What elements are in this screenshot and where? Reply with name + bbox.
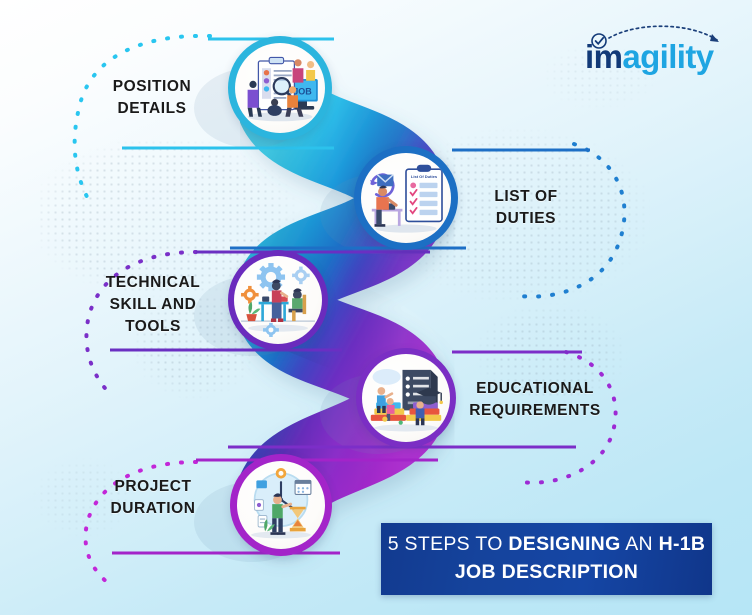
title-banner-text: 5 STEPS TO DESIGNING AN H-1B JOB DESCRIP… — [388, 531, 706, 586]
step-disc-2: List Of Duties — [361, 153, 451, 243]
step-disc-1: JOB — [235, 43, 325, 133]
step-node-list-of-duties[interactable]: List Of Duties — [354, 146, 458, 250]
logo-text-im: im — [585, 38, 622, 75]
step-label-3-line2: SKILL AND — [88, 294, 218, 316]
step-node-educational-requirements[interactable] — [356, 348, 456, 448]
step-disc-3 — [234, 256, 322, 344]
step-node-project-duration[interactable] — [230, 454, 332, 556]
logo-text-agility: agility — [622, 38, 713, 75]
step-label-4-line1: EDUCATIONAL — [460, 378, 610, 400]
step-disc-5 — [237, 461, 325, 549]
logo-wordmark: imagility — [585, 40, 713, 73]
step-label-2-line1: LIST OF — [464, 186, 588, 208]
dotted-arc-top-left — [75, 36, 210, 206]
banner-line1-b: DESIGNING — [508, 533, 620, 555]
svg-text:JOB: JOB — [293, 86, 312, 96]
step-label-1: POSITION DETAILS — [88, 76, 216, 120]
banner-line1-c: AN — [621, 533, 659, 555]
banner-line2: JOB DESCRIPTION — [455, 561, 638, 583]
step-label-3-line3: TOOLS — [88, 316, 218, 338]
books-graduation-icon — [362, 354, 450, 442]
step-node-position-details[interactable]: JOB — [228, 36, 332, 140]
step-node-technical-skill-and-tools[interactable] — [228, 250, 328, 350]
gears-teamwork-icon — [234, 256, 322, 344]
step-label-4-line2: REQUIREMENTS — [460, 400, 610, 422]
step-label-5-line2: DURATION — [90, 498, 216, 520]
clock-hourglass-icon — [237, 461, 325, 549]
step-disc-4 — [362, 354, 450, 442]
step-label-5: PROJECT DURATION — [90, 476, 216, 520]
step-label-1-line1: POSITION — [88, 76, 216, 98]
step-label-3: TECHNICAL SKILL AND TOOLS — [88, 272, 218, 338]
banner-line1-a: 5 STEPS TO — [388, 533, 509, 555]
brand-logo[interactable]: imagility — [585, 26, 735, 78]
step-label-5-line1: PROJECT — [90, 476, 216, 498]
step-label-4: EDUCATIONAL REQUIREMENTS — [460, 378, 610, 422]
step-label-2: LIST OF DUTIES — [464, 186, 588, 230]
step-label-1-line2: DETAILS — [88, 98, 216, 120]
job-posting-review-icon: JOB — [235, 43, 325, 133]
banner-line1-d: H-1B — [659, 533, 706, 555]
duties-checklist-icon: List Of Duties — [361, 153, 451, 243]
svg-text:List Of Duties: List Of Duties — [411, 174, 438, 179]
step-label-3-line1: TECHNICAL — [88, 272, 218, 294]
title-banner: 5 STEPS TO DESIGNING AN H-1B JOB DESCRIP… — [381, 523, 712, 595]
step-label-2-line2: DUTIES — [464, 208, 588, 230]
infographic-canvas: JOB — [0, 0, 752, 615]
